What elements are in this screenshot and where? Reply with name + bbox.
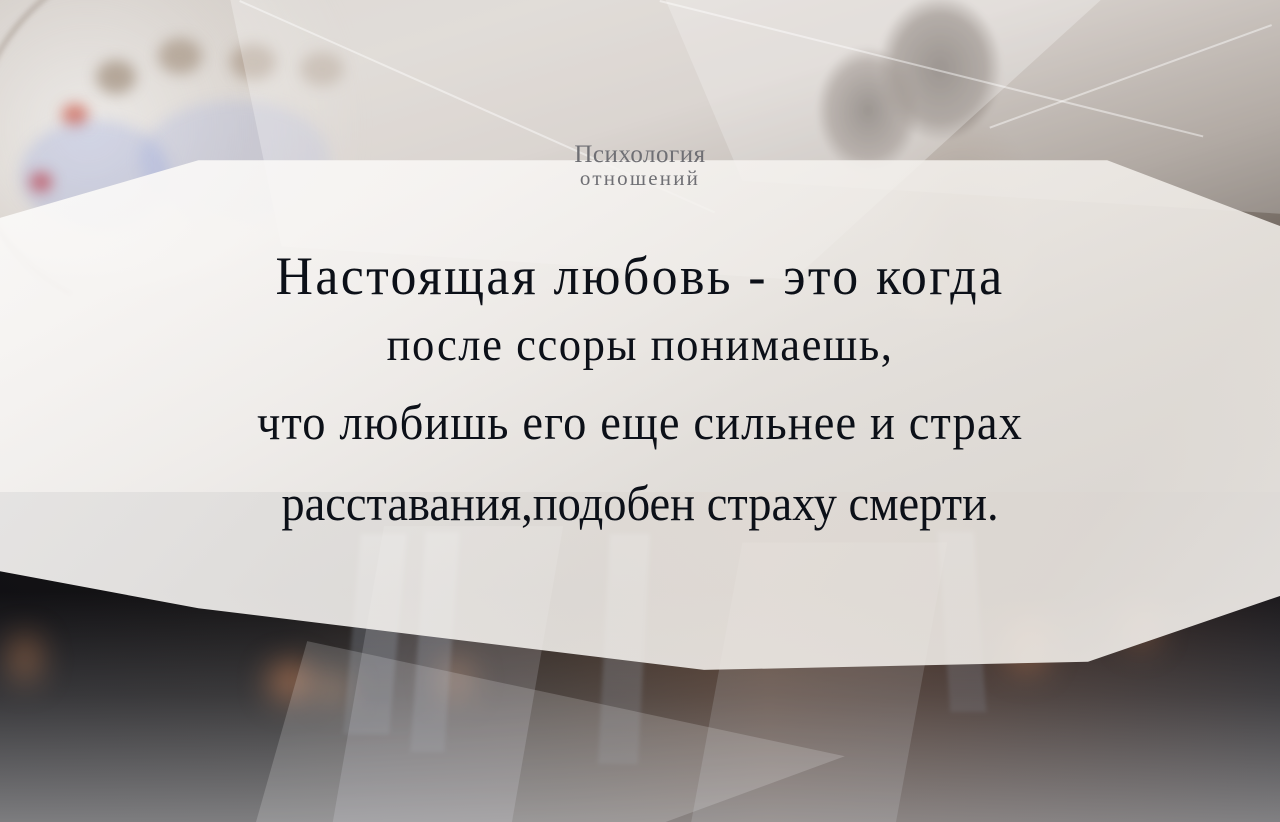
brand-line-1: Психология [0,142,1280,168]
bokeh-dot [230,44,276,80]
quote-line-2: после ссоры понимаешь, [32,309,1248,382]
quote-line-1: Настоящая любовь - это когда [26,245,1255,309]
bokeh-dot [300,52,344,86]
quote-line-3: что любишь его еще сильнее и страх [45,382,1235,463]
bokeh-dot [96,60,136,94]
quote-line-4: расставания,подобен страху смерти. [45,463,1235,544]
brand-line-2: отношений [0,168,1280,189]
quote-image: Психология отношений Настоящая любовь - … [0,0,1280,822]
quote-text-block: Настоящая любовь - это когда после ссоры… [0,245,1280,544]
bokeh-dot [158,38,202,74]
brand-block: Психология отношений [0,142,1280,189]
